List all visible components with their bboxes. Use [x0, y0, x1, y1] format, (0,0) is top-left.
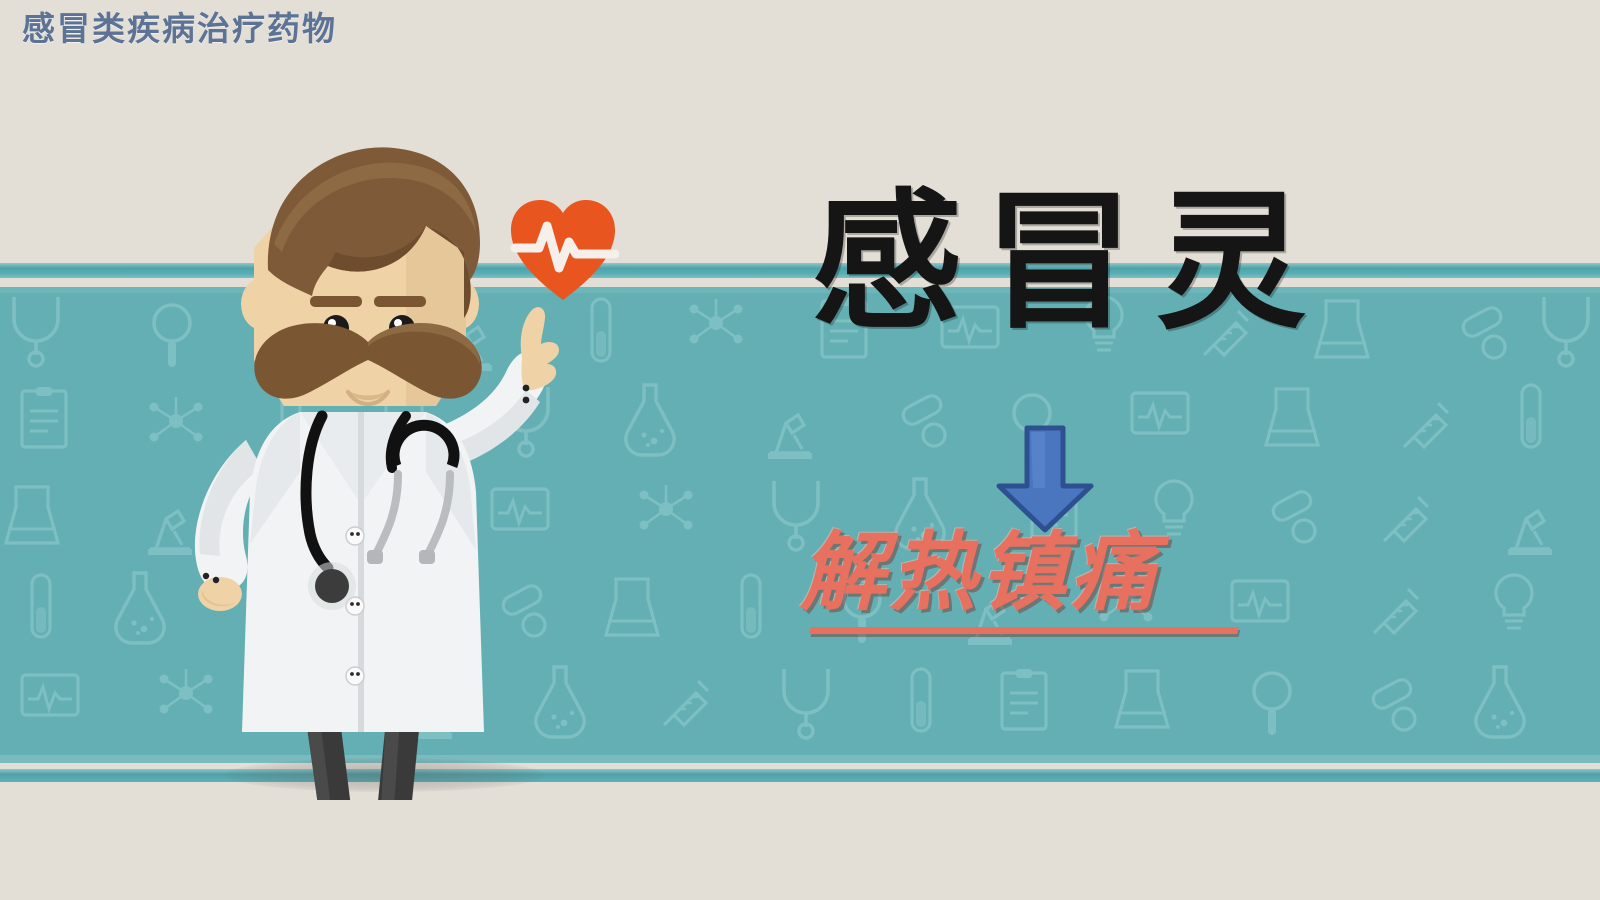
headline-text: 感冒灵 — [812, 188, 1328, 341]
subtitle-block: 解热镇痛 — [800, 524, 1260, 636]
heart-pulse-icon — [507, 196, 619, 304]
slide-canvas: 感冒类疾病治疗药物 — [0, 0, 1600, 900]
subtitle-underline — [809, 627, 1238, 634]
down-arrow-icon — [985, 424, 1105, 534]
subtitle-text: 解热镇痛 — [800, 524, 1160, 623]
page-title: 感冒类疾病治疗药物 — [22, 14, 337, 47]
